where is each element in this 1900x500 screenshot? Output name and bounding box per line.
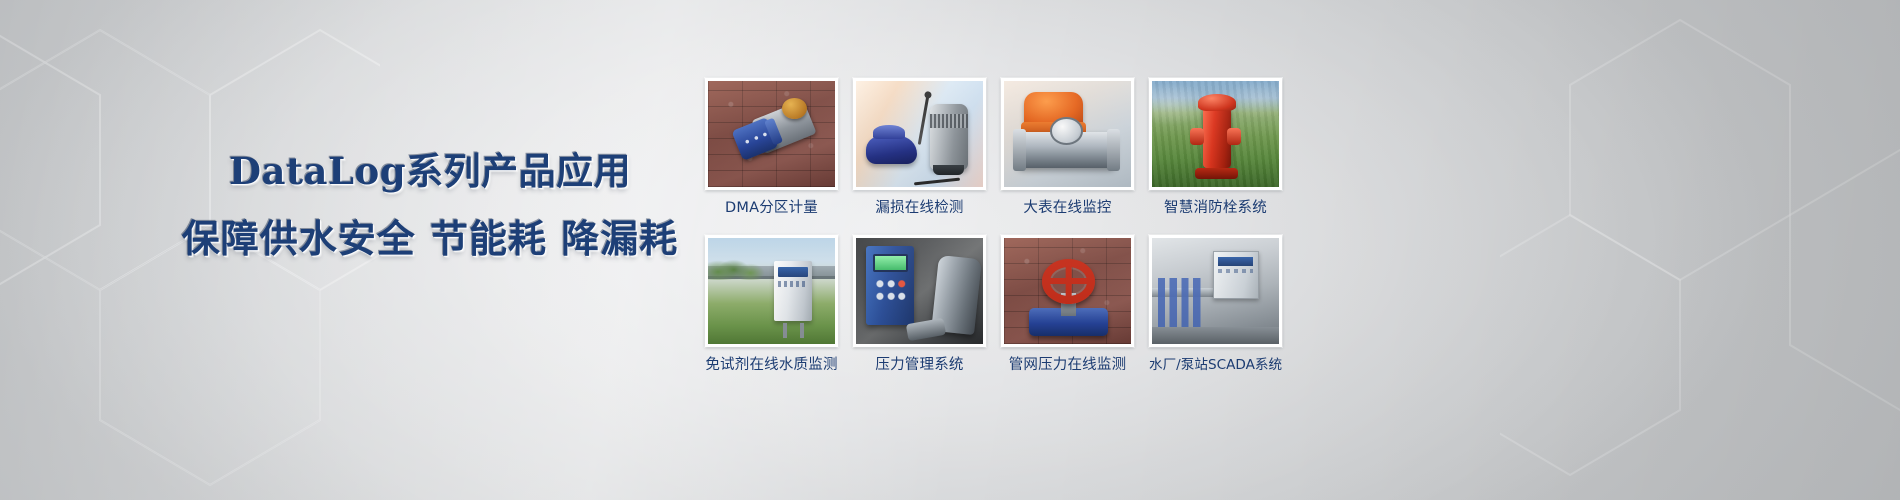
hexagon-pattern-right	[1500, 0, 1900, 500]
product-thumbnail[interactable]	[1149, 78, 1282, 190]
water-quality-monitor-photo	[708, 238, 835, 344]
pressure-management-panel-photo	[856, 238, 983, 344]
product-tile[interactable]: 智慧消防栓系统	[1149, 78, 1282, 217]
product-tile[interactable]: 水厂/泵站SCADA系统	[1149, 235, 1282, 374]
product-thumbnail[interactable]	[705, 78, 838, 190]
product-thumbnail[interactable]	[1001, 78, 1134, 190]
product-caption: 智慧消防栓系统	[1149, 199, 1282, 217]
large-water-meter-photo	[1004, 81, 1131, 187]
scada-pump-station-photo	[1152, 238, 1279, 344]
dma-flow-meter-photo	[708, 81, 835, 187]
product-caption: 水厂/泵站SCADA系统	[1149, 356, 1282, 374]
smart-fire-hydrant-photo	[1152, 81, 1279, 187]
product-caption: 漏损在线检测	[853, 199, 986, 217]
product-caption: DMA分区计量	[705, 199, 838, 217]
product-application-banner: DataLog系列产品应用 保障供水安全 节能耗 降漏耗 DMA分区计量	[0, 0, 1900, 500]
product-tile-grid: DMA分区计量 漏损在线检测	[705, 78, 1283, 374]
product-caption: 压力管理系统	[853, 356, 986, 374]
product-thumbnail[interactable]	[1001, 235, 1134, 347]
product-tile[interactable]: 管网压力在线监测	[1001, 235, 1134, 374]
pipeline-pressure-valve-photo	[1004, 238, 1131, 344]
headline-block: DataLog系列产品应用 保障供水安全 节能耗 降漏耗	[150, 148, 710, 262]
headline-secondary: 保障供水安全 节能耗 降漏耗	[150, 216, 710, 262]
product-tile[interactable]: 漏损在线检测	[853, 78, 986, 217]
product-caption: 大表在线监控	[1001, 199, 1134, 217]
leak-detection-logger-photo	[856, 81, 983, 187]
product-thumbnail[interactable]	[853, 235, 986, 347]
headline-primary: DataLog系列产品应用	[150, 148, 710, 194]
product-tile[interactable]: 免试剂在线水质监测	[705, 235, 838, 374]
product-tile[interactable]: 大表在线监控	[1001, 78, 1134, 217]
product-caption: 管网压力在线监测	[1001, 356, 1134, 374]
product-thumbnail[interactable]	[1149, 235, 1282, 347]
product-thumbnail[interactable]	[853, 78, 986, 190]
product-thumbnail[interactable]	[705, 235, 838, 347]
product-caption: 免试剂在线水质监测	[705, 356, 838, 374]
product-tile[interactable]: 压力管理系统	[853, 235, 986, 374]
product-tile[interactable]: DMA分区计量	[705, 78, 838, 217]
